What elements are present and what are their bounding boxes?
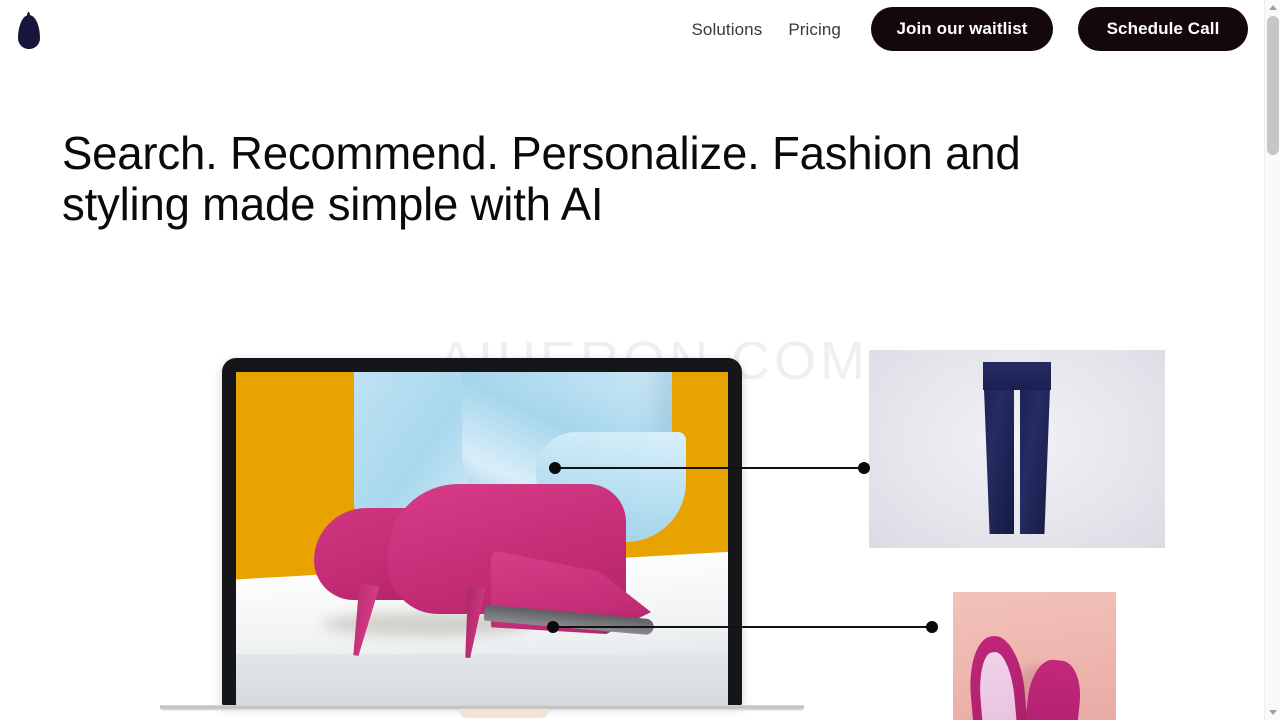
page-scrollbar[interactable] [1264,0,1280,720]
connector-line [549,467,870,469]
photo-pedestal-front [236,654,728,706]
product-card-shoes[interactable] [953,592,1116,720]
laptop-mockup [222,358,742,706]
connector-line [547,626,938,628]
nav-link-solutions[interactable]: Solutions [678,13,775,46]
page-root: Solutions Pricing Join our waitlist Sche… [0,0,1280,720]
connector-dot-source [547,621,559,633]
scroll-up-arrow-icon[interactable] [1265,0,1280,15]
product-card-trousers[interactable] [869,350,1165,548]
connector-dot-target [926,621,938,633]
connector-dot-source [549,462,561,474]
schedule-call-button[interactable]: Schedule Call [1078,7,1248,51]
laptop-lid [222,358,742,706]
connector-dot-target [858,462,870,474]
brand-logo[interactable] [14,10,44,54]
trouser-waistband [983,362,1051,390]
connector-shoes [547,621,938,633]
join-waitlist-button[interactable]: Join our waitlist [871,7,1053,51]
trouser-crease [1016,392,1018,534]
trousers-image [981,362,1053,534]
laptop-screen [236,372,728,706]
top-navigation-bar: Solutions Pricing Join our waitlist Sche… [0,0,1264,58]
laptop-base-notch [460,709,548,718]
nav-link-pricing[interactable]: Pricing [775,13,854,46]
teardrop-logo-icon [18,15,40,49]
connector-trousers [549,462,870,474]
hero-headline: Search. Recommend. Personalize. Fashion … [62,128,1151,230]
nav-right-group: Solutions Pricing Join our waitlist Sche… [678,0,1248,58]
scroll-thumb[interactable] [1267,16,1279,155]
scroll-down-arrow-icon[interactable] [1265,705,1280,720]
